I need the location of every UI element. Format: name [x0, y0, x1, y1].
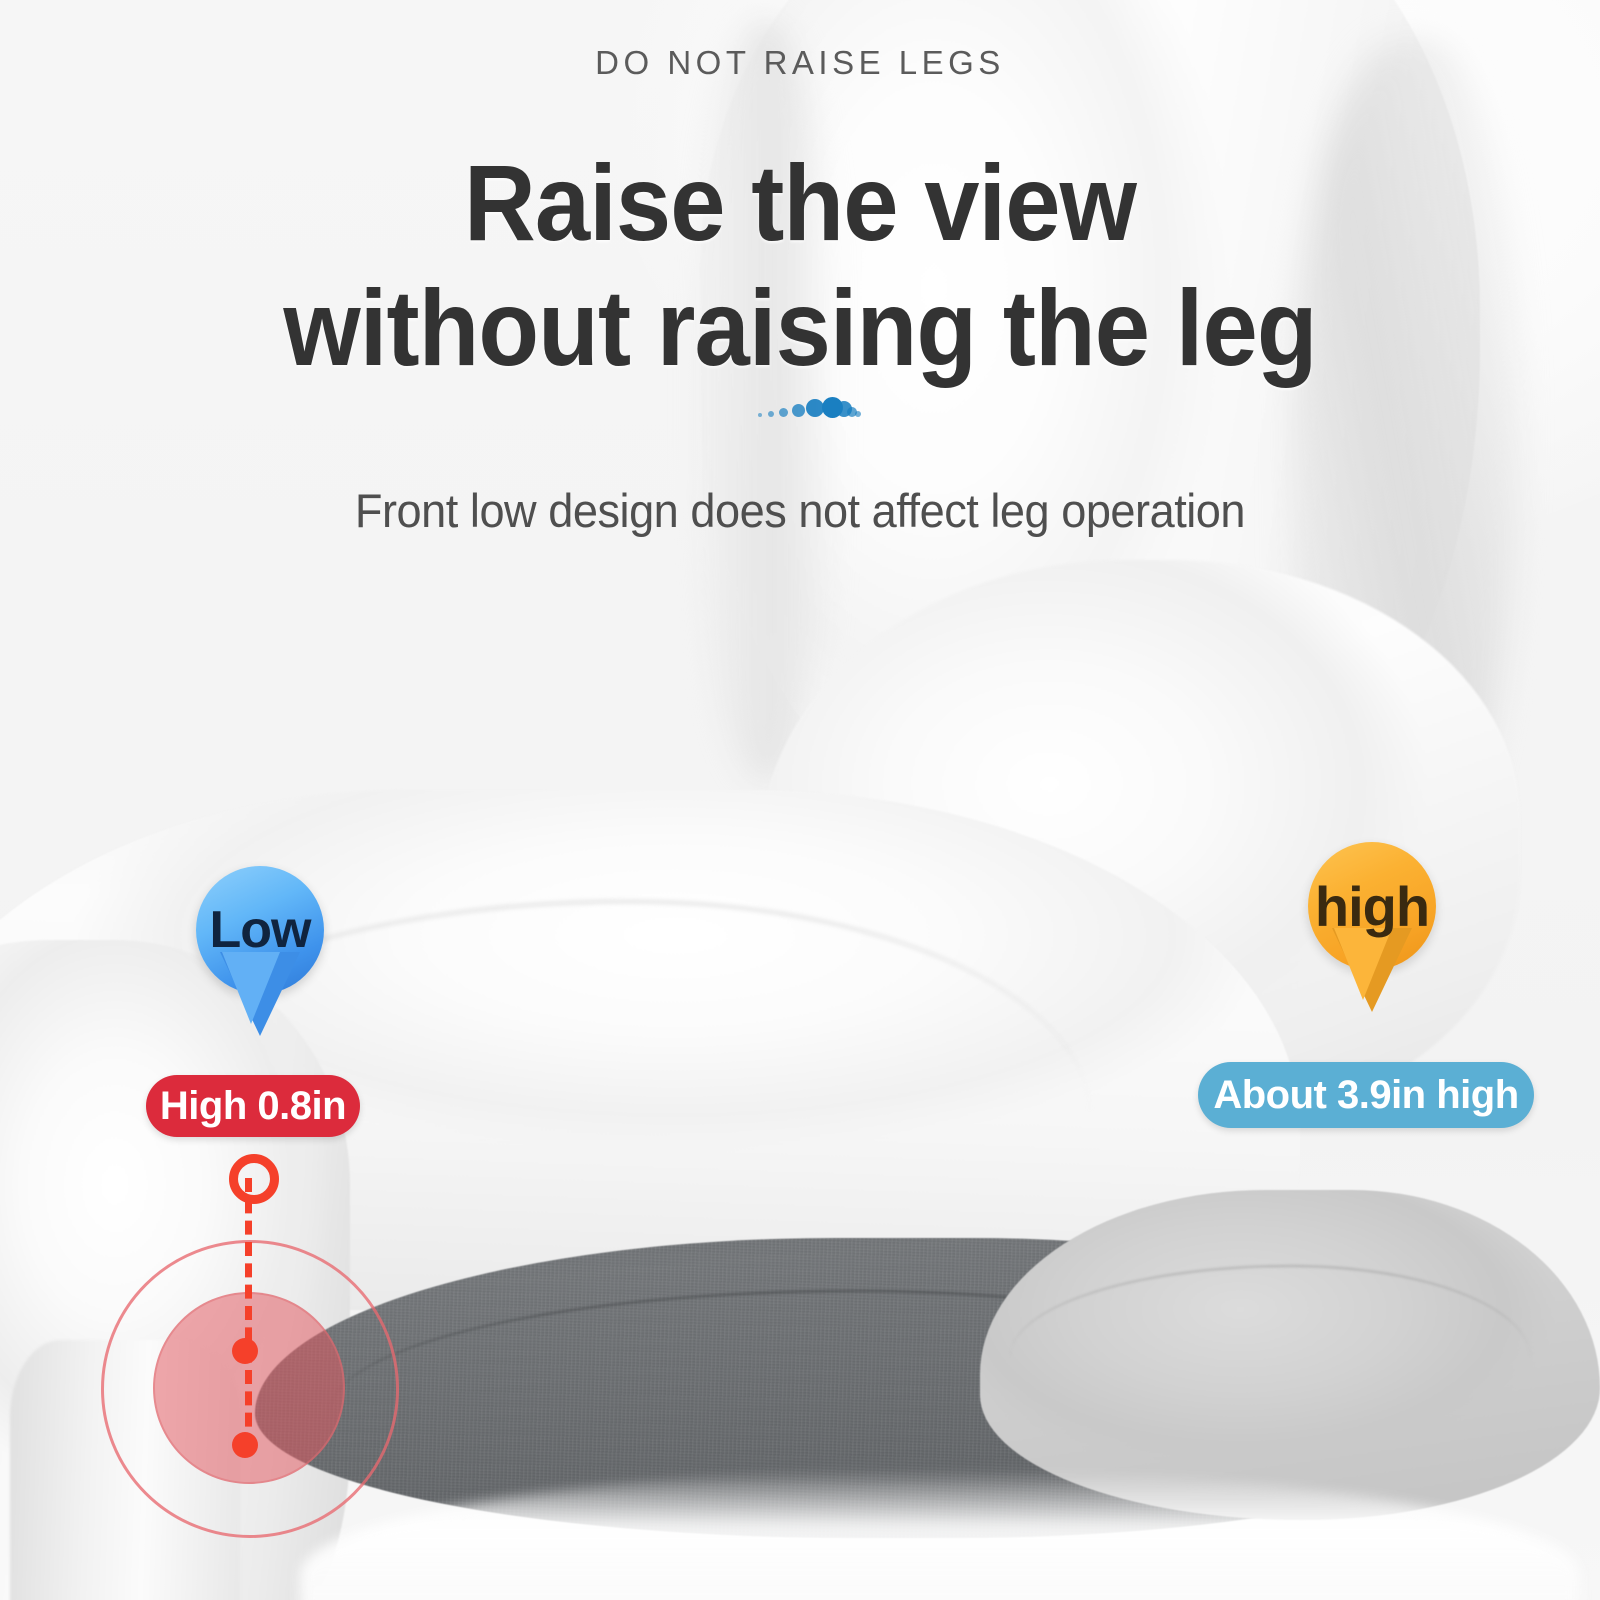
subtitle-text: Front low design does not affect leg ope… — [32, 483, 1568, 538]
badge-rear-height: About 3.9in high — [1198, 1062, 1534, 1128]
marker-pin-high: high — [1308, 842, 1436, 1012]
measurement-dot-upper-icon — [232, 1338, 258, 1364]
measurement-dashed-line — [245, 1178, 252, 1448]
headline-line-1: Raise the view — [464, 142, 1136, 263]
dot-motif-dot — [855, 411, 861, 417]
dot-motif-dot — [758, 413, 762, 417]
eyebrow-text: DO NOT RAISE LEGS — [0, 44, 1600, 82]
measurement-anchor-ring-icon — [229, 1154, 279, 1204]
marker-pin-high-label: high — [1308, 842, 1436, 970]
dot-motif-decoration — [756, 392, 860, 424]
headline-line-2: without raising the leg — [64, 265, 1536, 390]
marker-pin-low-label: Low — [196, 866, 324, 994]
dot-motif-dot — [792, 404, 805, 417]
measurement-dot-lower-icon — [232, 1432, 258, 1458]
dot-motif-dot — [768, 411, 774, 417]
dot-motif-dot — [779, 408, 788, 417]
page-title: Raise the view without raising the leg — [64, 140, 1536, 391]
marker-pin-low: Low — [196, 866, 324, 1036]
badge-front-height: High 0.8in — [146, 1075, 360, 1137]
product-feature-image: DO NOT RAISE LEGS Raise the view without… — [0, 0, 1600, 1600]
